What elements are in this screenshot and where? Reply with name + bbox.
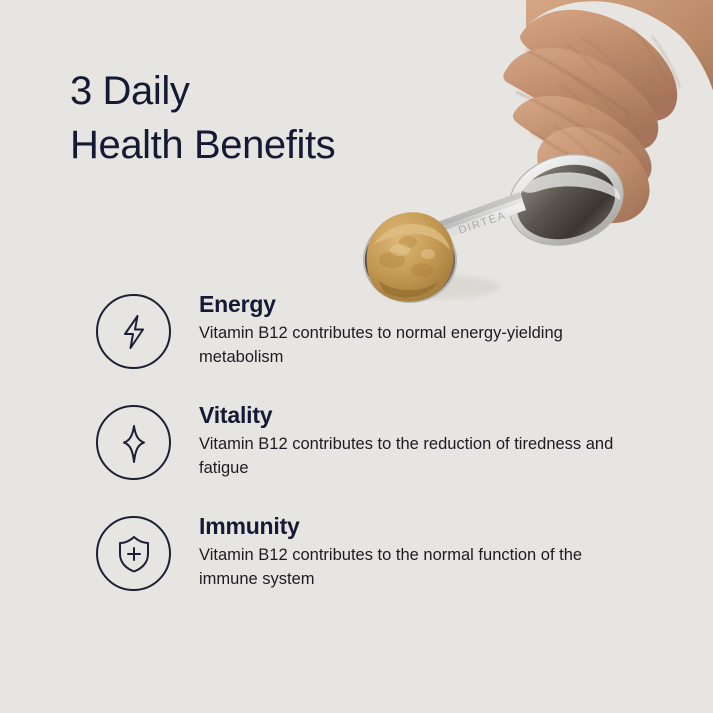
benefit-text-immunity: Immunity Vitamin B12 contributes to the …: [199, 509, 631, 591]
spoon-dose-marking: 2g: [409, 237, 421, 250]
benefit-text-energy: Energy Vitamin B12 contributes to normal…: [199, 287, 631, 369]
page-title-line-2: Health Benefits: [70, 118, 335, 172]
benefit-item-energy: Energy Vitamin B12 contributes to normal…: [96, 287, 656, 369]
benefit-item-immunity: Immunity Vitamin B12 contributes to the …: [96, 509, 656, 591]
benefit-description: Vitamin B12 contributes to normal energy…: [199, 321, 631, 369]
benefit-title: Energy: [199, 290, 631, 319]
benefits-list: Energy Vitamin B12 contributes to normal…: [96, 287, 656, 591]
benefit-title: Immunity: [199, 512, 631, 541]
spoon-handle: DIRTEA 2g: [396, 192, 526, 254]
benefit-item-vitality: Vitality Vitamin B12 contributes to the …: [96, 398, 656, 480]
product-photo-hand-holding-spoon: DIRTEA 2g: [330, 0, 713, 317]
benefit-description: Vitamin B12 contributes to the normal fu…: [199, 543, 631, 591]
sparkle-star-icon: [96, 405, 171, 480]
spoon-brand-engraving: DIRTEA: [457, 209, 508, 237]
page-title: 3 Daily Health Benefits: [70, 64, 335, 172]
page-title-line-1: 3 Daily: [70, 64, 335, 118]
promo-card: 3 Daily Health Benefits: [0, 0, 713, 713]
lightning-bolt-icon: [96, 294, 171, 369]
large-spoon-bowl: [498, 142, 634, 259]
benefit-text-vitality: Vitality Vitamin B12 contributes to the …: [199, 398, 631, 480]
shield-plus-icon: [96, 516, 171, 591]
benefit-description: Vitamin B12 contributes to the reduction…: [199, 432, 631, 480]
benefit-title: Vitality: [199, 401, 631, 430]
hand-illustration: [503, 0, 713, 223]
